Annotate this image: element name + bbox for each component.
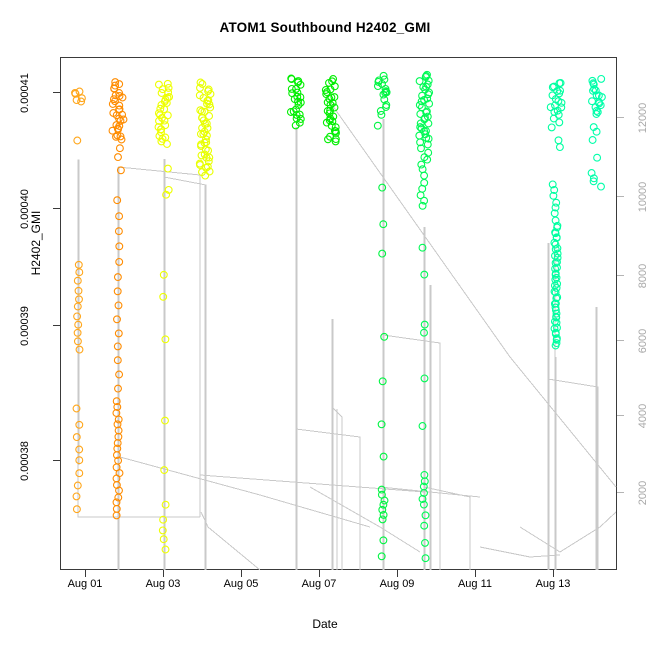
x-tick-label-3: Aug 07 (284, 578, 354, 590)
scatter-series-6 (322, 76, 339, 145)
data-points-layer (72, 71, 606, 561)
data-point (379, 184, 386, 191)
x-tick-label-2: Aug 05 (206, 578, 276, 590)
data-point (557, 144, 564, 151)
x-tick-label-6: Aug 13 (518, 578, 588, 590)
data-point (555, 137, 562, 144)
y-tick-3 (53, 92, 60, 93)
data-point (76, 470, 83, 477)
x-tick-5 (475, 570, 476, 577)
y2-tick-3 (617, 275, 624, 276)
scatter-series-9 (547, 80, 565, 349)
scatter-series-10 (588, 76, 605, 191)
y-tick-label-0: 0.00038 (19, 432, 31, 490)
plot-area (60, 57, 617, 570)
y2-tick-label-2: 6000 (637, 317, 649, 365)
x-tick-0 (85, 570, 86, 577)
x-tick-4 (397, 570, 398, 577)
data-point (162, 122, 169, 129)
x-tick-1 (163, 570, 164, 577)
scatter-series-5 (288, 75, 305, 129)
y2-tick-label-0: 2000 (637, 469, 649, 517)
altitude-trace-layer (78, 102, 616, 570)
data-point (162, 501, 169, 508)
data-point (115, 154, 122, 161)
data-point (74, 137, 81, 144)
chart-canvas: ATOM1 Southbound H2402_GMI H2402_GMI Dat… (0, 0, 650, 650)
data-point (556, 119, 563, 126)
data-point (598, 76, 605, 83)
y2-tick-label-4: 10000 (637, 173, 649, 221)
data-point (165, 165, 172, 172)
data-point (379, 250, 386, 257)
x-tick-2 (241, 570, 242, 577)
x-tick-3 (319, 570, 320, 577)
x-tick-6 (553, 570, 554, 577)
y2-tick-4 (617, 196, 624, 197)
data-point (548, 124, 555, 131)
data-point (160, 293, 167, 300)
data-point (114, 197, 121, 204)
y2-tick-label-5: 12000 (637, 94, 649, 142)
x-tick-label-4: Aug 09 (362, 578, 432, 590)
data-point (156, 81, 163, 88)
data-point (164, 141, 171, 148)
data-point (598, 183, 605, 190)
data-point (74, 506, 81, 513)
y-tick-0 (53, 460, 60, 461)
data-point (117, 145, 124, 152)
y-axis-label: H2402_GMI (29, 163, 43, 323)
x-axis-label: Date (0, 617, 650, 631)
data-point (73, 493, 80, 500)
data-point (425, 120, 432, 127)
y2-tick-label-1: 4000 (637, 392, 649, 440)
y2-tick-2 (617, 340, 624, 341)
data-point (589, 137, 596, 144)
data-point (421, 172, 428, 179)
data-point (419, 185, 426, 192)
x-tick-label-0: Aug 01 (50, 578, 120, 590)
plot-svg (60, 57, 617, 570)
data-point (418, 161, 425, 168)
x-tick-label-1: Aug 03 (128, 578, 198, 590)
x-tick-label-5: Aug 11 (440, 578, 510, 590)
y-tick-label-3: 0.00041 (19, 64, 31, 122)
data-point (594, 154, 601, 161)
scatter-series-4 (196, 79, 214, 179)
data-point (158, 90, 165, 97)
chart-title: ATOM1 Southbound H2402_GMI (0, 20, 650, 35)
y-tick-label-2: 0.00040 (19, 180, 31, 238)
data-point (425, 149, 432, 156)
y2-tick-1 (617, 415, 624, 416)
data-point (374, 122, 381, 129)
y-tick-label-1: 0.00039 (19, 297, 31, 355)
y2-tick-5 (617, 117, 624, 118)
y2-tick-label-3: 8000 (637, 252, 649, 300)
y2-tick-0 (617, 492, 624, 493)
y-tick-2 (53, 208, 60, 209)
y-tick-1 (53, 325, 60, 326)
data-point (76, 88, 83, 95)
scatter-series-7 (374, 72, 390, 559)
data-point (419, 166, 426, 173)
data-point (547, 104, 554, 111)
